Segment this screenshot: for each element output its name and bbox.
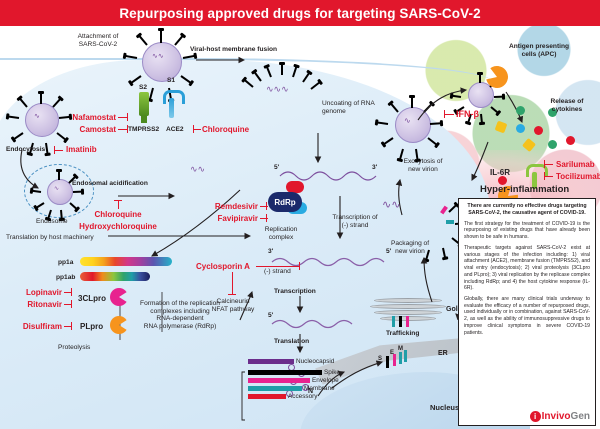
label-m-protein: M bbox=[398, 346, 403, 353]
info-panel: There are currently no effective drugs t… bbox=[458, 198, 596, 426]
label-endocytosis: Endocytosis bbox=[6, 146, 45, 154]
legend-item: Spike bbox=[248, 369, 348, 376]
label-s2: S2 bbox=[139, 84, 147, 92]
polyprotein-pp1ab-bar bbox=[80, 272, 150, 281]
cytokine-dot bbox=[566, 136, 575, 145]
drug-disulfiram: Disulfiram bbox=[4, 322, 62, 331]
drug-imatinib: Imatinib bbox=[66, 145, 97, 154]
label-genome-3prime: 3' bbox=[372, 164, 377, 172]
legend-label: Accessory bbox=[288, 393, 317, 400]
cytokine-dot bbox=[534, 126, 543, 135]
virion-released: ∿ bbox=[384, 96, 440, 152]
drug-nafamostat: Nafamostat bbox=[42, 113, 116, 122]
drug-lopinavir: Lopinavir bbox=[4, 288, 62, 297]
cytokine-dot bbox=[516, 124, 525, 133]
drug-camostat: Camostat bbox=[42, 125, 116, 134]
label-s1: S1 bbox=[167, 77, 175, 85]
virion-attachment: ∿∿ bbox=[130, 30, 192, 92]
label-3clpro: 3CLpro bbox=[78, 294, 106, 303]
legend-label: Nucleocapsid bbox=[296, 358, 334, 365]
drug-remdesivir: Remdesivir bbox=[196, 202, 258, 211]
drug-tocilizumab: Tocilizumab bbox=[556, 172, 600, 181]
label-pp1a: pp1a bbox=[58, 259, 73, 267]
label-er: ER bbox=[438, 350, 448, 358]
label-endosomal-acidification: Endosomal acidification bbox=[72, 180, 148, 188]
label-fusion: Viral-host membrane fusion bbox=[190, 46, 277, 54]
label-s-protein: S bbox=[378, 356, 382, 363]
label-5prime-plus: 5' bbox=[268, 312, 273, 320]
protein-legend: Nucleocapsid Spike Envelope Membrane Acc… bbox=[248, 358, 348, 401]
label-genome-5prime: 5' bbox=[274, 164, 279, 172]
logo-word-gen: Gen bbox=[571, 411, 590, 422]
diagram-canvas: Repurposing approved drugs for targeting… bbox=[0, 0, 600, 429]
ace2-receptor bbox=[163, 90, 179, 116]
legend-item: Membrane bbox=[248, 385, 348, 392]
drug-ifnb: IFN-β bbox=[456, 109, 479, 119]
label-translation: Translation bbox=[274, 338, 309, 346]
label-release-cytokines: Release of cytokines bbox=[540, 98, 594, 113]
label-packaging: Packaging of new virion bbox=[382, 240, 438, 255]
info-title: There are currently no effective drugs t… bbox=[464, 203, 590, 217]
legend-label: Spike bbox=[324, 369, 340, 376]
label-calcineurin: Calcineurin NFAT pathway bbox=[204, 298, 262, 313]
legend-label: Envelope bbox=[312, 377, 339, 384]
label-plpro: PLpro bbox=[80, 322, 103, 331]
label-attachment: Attachment of SARS-CoV-2 bbox=[62, 33, 134, 48]
polyprotein-pp1a-bar bbox=[80, 257, 172, 266]
drug-chloroquine-ace2: Chloroquine bbox=[202, 125, 249, 134]
info-paragraph-3: Globally, there are many clinical trials… bbox=[464, 296, 590, 336]
drug-cyclosporin: Cyclosporin A bbox=[196, 262, 250, 271]
virion-in-endosome: ∿ bbox=[38, 170, 80, 212]
label-3prime-minus: 3' bbox=[268, 248, 273, 256]
label-e-protein: E bbox=[390, 350, 394, 357]
label-proteolysis: Proteolysis bbox=[58, 344, 90, 352]
drug-ritonavir: Ritonavir bbox=[4, 300, 62, 309]
logo-word-invivo: Invivo bbox=[542, 411, 571, 422]
label-replication-complex: Replication complex bbox=[254, 226, 308, 241]
label-uncoating: Uncoating of RNA genome bbox=[322, 100, 375, 115]
label-il6r: IL-6R bbox=[490, 168, 510, 177]
drug-hydroxychloroquine: Hydroxychloroquine bbox=[62, 222, 174, 231]
label-transcription: Transcription bbox=[274, 288, 316, 296]
label-nucleus: Nucleus bbox=[430, 404, 459, 413]
label-translation-host: Translation by host machinery bbox=[6, 234, 94, 242]
label-ace2: ACE2 bbox=[166, 126, 184, 134]
cytokine-dot bbox=[548, 140, 557, 149]
label-exocytosis: Exocytosis of new virion bbox=[396, 158, 450, 173]
tmprss2-receptor bbox=[139, 92, 149, 116]
legend-item: Nucleocapsid bbox=[248, 358, 348, 365]
label-transcription-minus: Transcription of (-) strand bbox=[326, 214, 384, 229]
drug-chloroquine: Chloroquine bbox=[76, 210, 160, 219]
uncoated-genome-left: ∿∿ bbox=[180, 158, 226, 196]
label-hyper-inflammation: Hyper-inflammation bbox=[480, 185, 569, 196]
cytokine-dot bbox=[516, 106, 525, 115]
virion-fused: ∿∿∿ bbox=[248, 62, 318, 118]
rdrp-label: RdRp bbox=[268, 192, 302, 212]
legend-item: Accessory bbox=[248, 393, 348, 400]
logo-mark: i bbox=[530, 411, 541, 422]
label-pp1ab: pp1ab bbox=[56, 274, 75, 282]
label-tmprss2: TMPRSS2 bbox=[128, 126, 159, 134]
invivogen-logo: i Invivo Gen bbox=[530, 411, 590, 422]
drug-favipiravir: Favipiravir bbox=[196, 214, 258, 223]
label-apc: Antigen presenting cells (APC) bbox=[504, 43, 574, 58]
info-paragraph-1: The first strategy for the treatment of … bbox=[464, 221, 590, 241]
legend-label: Membrane bbox=[304, 385, 335, 392]
rdrp-complex: RdRp bbox=[268, 188, 324, 222]
label-trafficking: Trafficking bbox=[386, 330, 419, 338]
info-paragraph-2: Therapeutic targets against SARS-CoV-2 e… bbox=[464, 245, 590, 292]
page-title: Repurposing approved drugs for targeting… bbox=[0, 0, 600, 26]
label-minus-strand: (-) strand bbox=[264, 268, 291, 276]
drug-sarilumab: Sarilumab bbox=[556, 160, 595, 169]
legend-item: Envelope bbox=[248, 377, 348, 384]
